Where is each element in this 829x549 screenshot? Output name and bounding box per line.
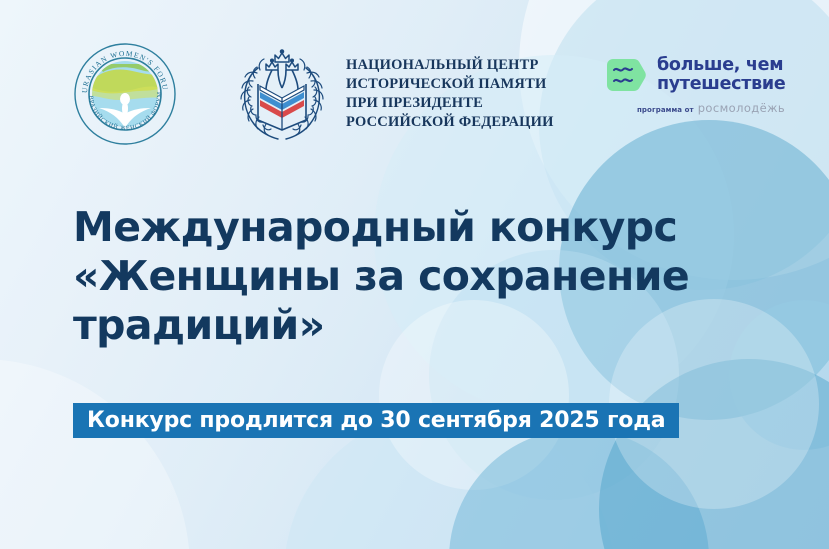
bcp-main-row: больше, чем путешествие [604, 56, 794, 94]
logo-bolshe-chem-puteshestvie: больше, чем путешествие программа от рос… [604, 56, 794, 115]
bcp-title-line-1: больше, чем [657, 56, 785, 75]
crowns-wreath-book-emblem-icon [228, 40, 336, 148]
logo-national-centre-historical-memory: НАЦИОНАЛЬНЫЙ ЦЕНТР ИСТОРИЧЕСКОЙ ПАМЯТИ П… [228, 40, 554, 148]
deadline-banner: Конкурс продлится до 30 сентября 2025 го… [73, 403, 679, 438]
ncim-title-line-3: ПРИ ПРЕЗИДЕНТЕ [346, 94, 554, 113]
ncim-title-line-4: РОССИЙСКОЙ ФЕДЕРАЦИИ [346, 113, 554, 132]
decorative-circle [449, 429, 709, 549]
bcp-subtitle-prefix: программа от [637, 106, 694, 114]
bcp-subtitle-row: программа от росмолодёжь [637, 101, 794, 115]
decorative-circle [729, 300, 829, 450]
decorative-circle [599, 359, 829, 549]
poster-canvas: EURASIAN WOMEN'S FORUM ЕВРАЗИЙСКИЙ ЖЕНСК… [0, 0, 829, 549]
page-title: Международный конкурс «Женщины за сохран… [73, 203, 733, 351]
ncim-title-block: НАЦИОНАЛЬНЫЙ ЦЕНТР ИСТОРИЧЕСКОЙ ПАМЯТИ П… [346, 56, 554, 131]
ncim-title-line-1: НАЦИОНАЛЬНЫЙ ЦЕНТР [346, 56, 554, 75]
globe-dove-seal-icon: EURASIAN WOMEN'S FORUM ЕВРАЗИЙСКИЙ ЖЕНСК… [73, 42, 177, 146]
headline-line-1: Международный конкурс [73, 203, 733, 252]
logo-row: EURASIAN WOMEN'S FORUM ЕВРАЗИЙСКИЙ ЖЕНСК… [0, 36, 829, 144]
headline-line-3: традиций» [73, 301, 733, 350]
logo-eurasian-womens-forum: EURASIAN WOMEN'S FORUM ЕВРАЗИЙСКИЙ ЖЕНСК… [73, 42, 177, 146]
waves-tag-icon [604, 56, 648, 94]
decorative-circle [0, 359, 190, 549]
bcp-title-block: больше, чем путешествие [657, 56, 785, 94]
ncim-title-line-2: ИСТОРИЧЕСКОЙ ПАМЯТИ [346, 75, 554, 94]
headline-line-2: «Женщины за сохранение [73, 252, 733, 301]
bcp-title-line-2: путешествие [657, 75, 785, 94]
bcp-subtitle-brand: росмолодёжь [698, 101, 785, 115]
